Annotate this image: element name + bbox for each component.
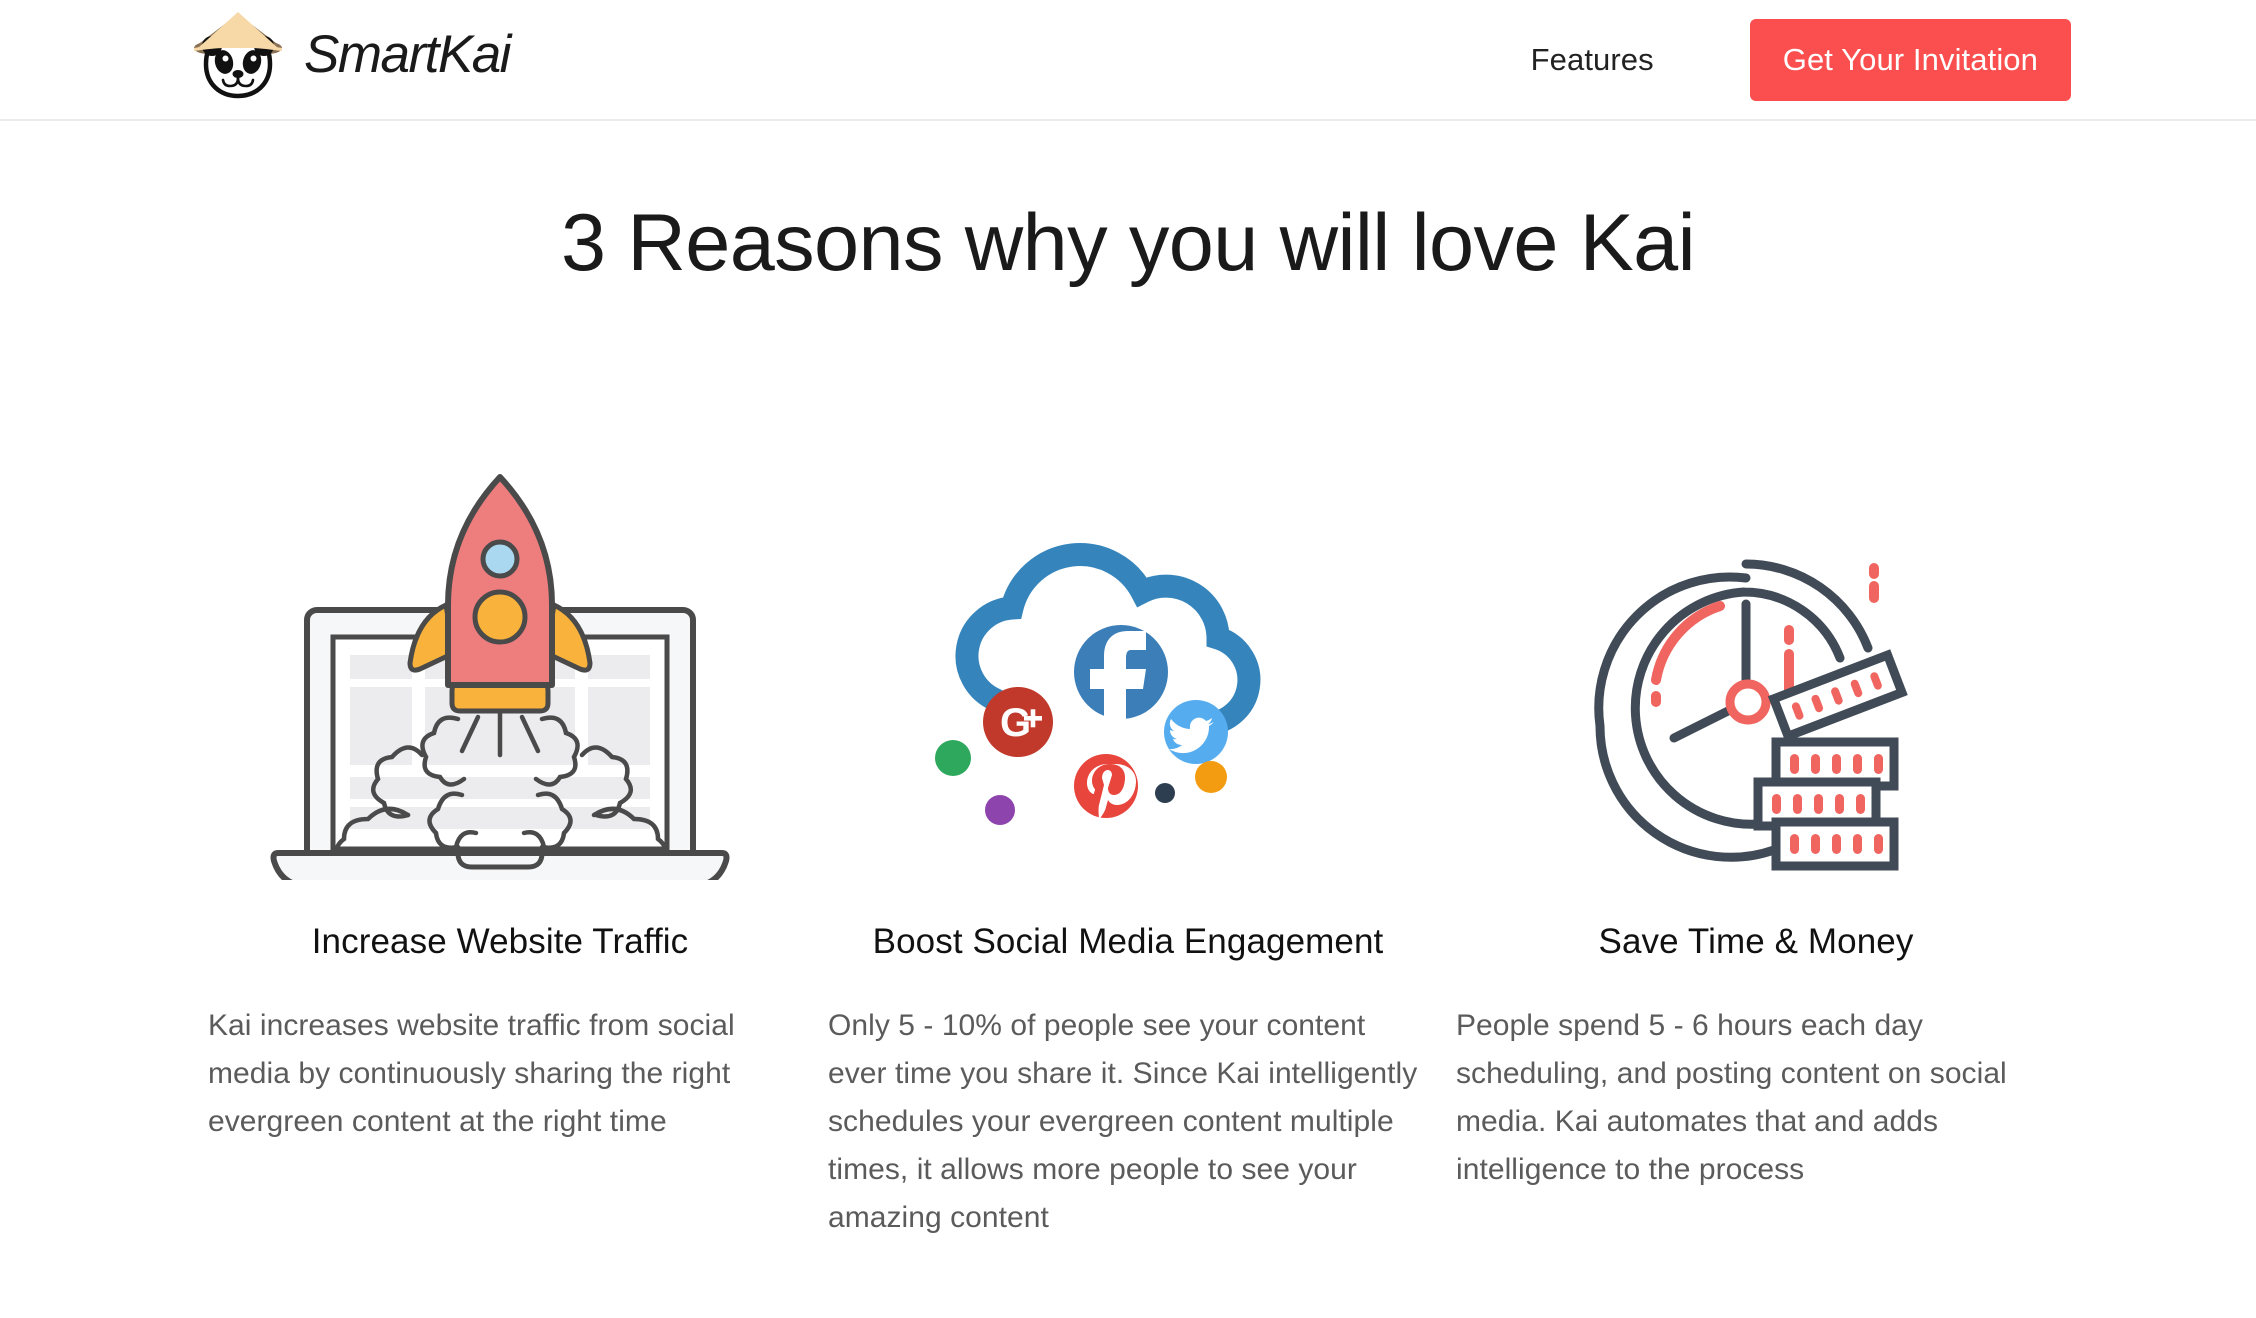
nav-item-features[interactable]: Features — [1531, 42, 1654, 78]
feature-title-3: Save Time & Money — [1456, 922, 2056, 962]
header-nav: Features Get Your Invitation — [1531, 0, 2071, 119]
feature-art-2: G — [828, 430, 1428, 880]
feature-card-save-time: Save Time & Money People spend 5 - 6 hou… — [1442, 430, 2070, 1242]
social-media-cloud-icon: G — [918, 540, 1338, 880]
site-header: SmartKai Features Get Your Invitation — [0, 0, 2256, 121]
clock-and-coins-icon — [1586, 550, 1926, 880]
feature-card-increase-traffic: Increase Website Traffic Kai increases w… — [186, 430, 814, 1242]
get-invitation-button[interactable]: Get Your Invitation — [1750, 19, 2071, 101]
features-grid: Increase Website Traffic Kai increases w… — [186, 430, 2070, 1242]
feature-card-boost-engagement: G Boost Social Media Engagement Only 5 -… — [814, 430, 1442, 1242]
feature-art-1 — [200, 430, 800, 880]
svg-text:G: G — [1000, 701, 1031, 745]
feature-body-1: Kai increases website traffic from socia… — [200, 1002, 800, 1146]
panda-conical-hat-logo — [186, 6, 290, 102]
feature-body-2: Only 5 - 10% of people see your content … — [828, 1002, 1428, 1242]
brand-name: SmartKai — [304, 28, 510, 81]
feature-title-1: Increase Website Traffic — [200, 922, 800, 962]
feature-art-3 — [1456, 430, 2056, 880]
page-title: 3 Reasons why you will love Kai — [0, 199, 2256, 288]
feature-body-3: People spend 5 - 6 hours each day schedu… — [1456, 1002, 2056, 1194]
rocket-launching-from-laptop-icon — [250, 455, 750, 880]
feature-title-2: Boost Social Media Engagement — [828, 922, 1428, 962]
brand-logo-link[interactable]: SmartKai — [186, 4, 510, 104]
